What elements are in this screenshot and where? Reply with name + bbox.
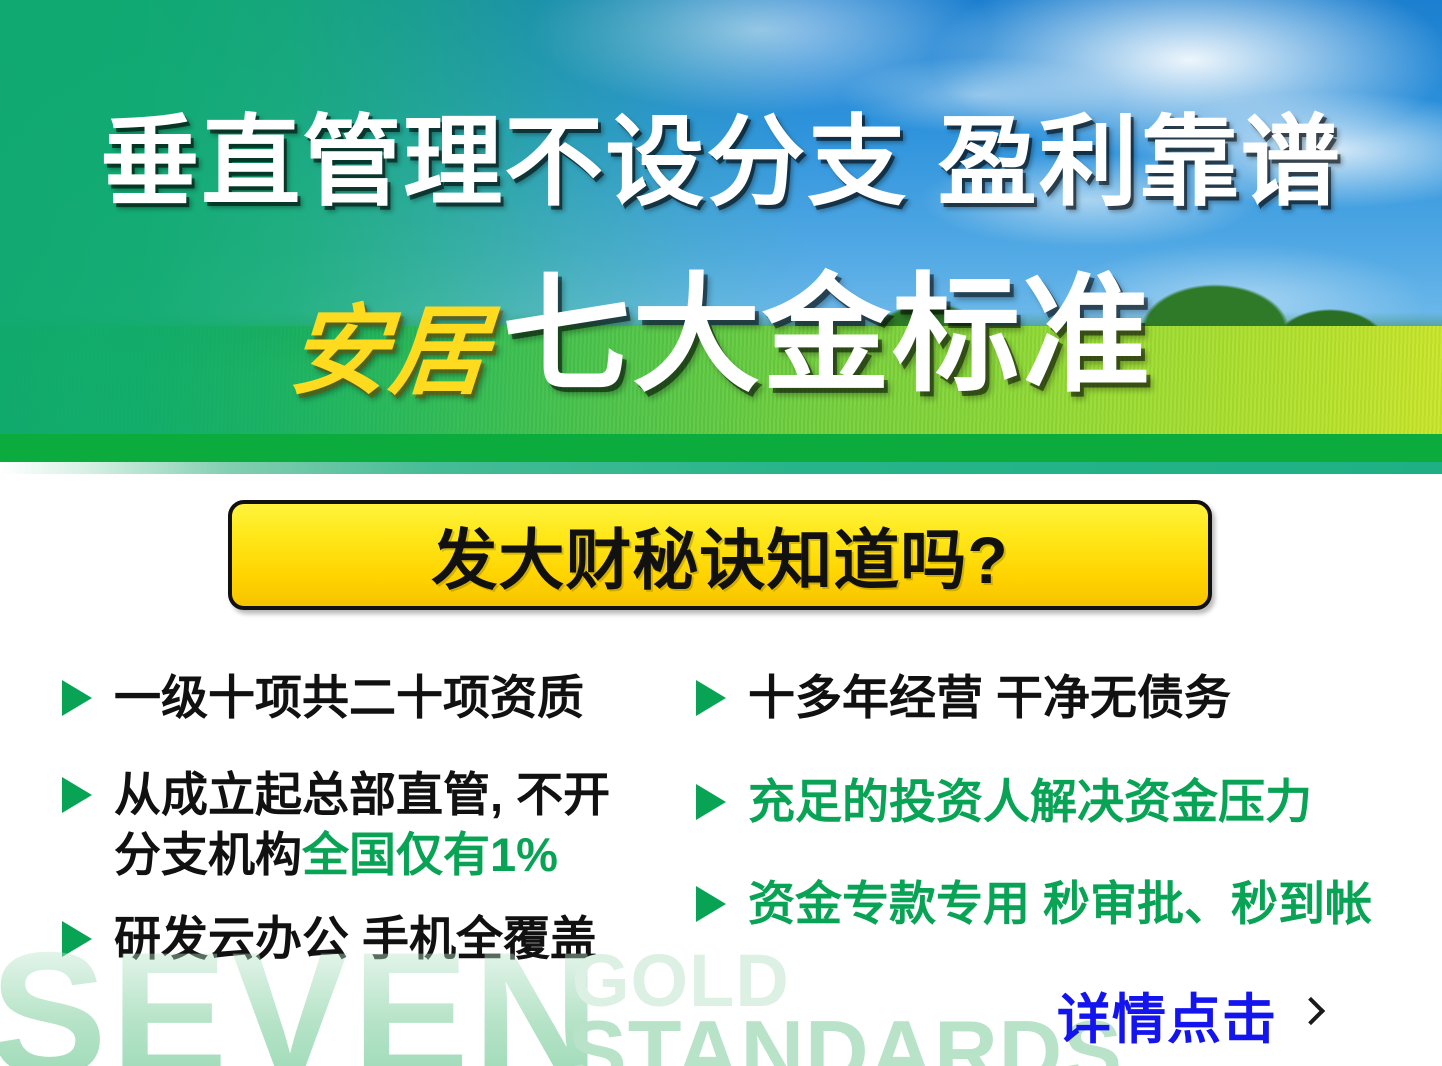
list-item: 十多年经营 干净无债务 xyxy=(696,668,1416,728)
hero-brand-text: 安居 xyxy=(286,302,493,400)
list-item: 研发云办公 手机全覆盖 xyxy=(62,909,692,969)
list-item-label: 一级十项共二十项资质 xyxy=(114,668,584,728)
triangle-bullet-icon xyxy=(696,784,726,820)
list-item-label: 充足的投资人解决资金压力 xyxy=(748,772,1312,832)
hero-subheadline-main: 七大金标准 xyxy=(502,272,1152,400)
details-cta-link[interactable]: 详情点击 xyxy=(1057,975,1319,1054)
triangle-bullet-icon xyxy=(696,680,726,716)
list-item-label: 十多年经营 干净无债务 xyxy=(748,668,1231,728)
watermark-standards: STANDARDS xyxy=(568,1008,1123,1066)
triangle-bullet-icon xyxy=(696,886,726,922)
feature-column-right: 十多年经营 干净无债务 充足的投资人解决资金压力 资金专款专用 秒审批、秒到帐 xyxy=(696,668,1416,966)
advertisement-banner: 垂直管理不设分支 盈利靠谱 安居 七大金标准 发大财秘诀知道吗? 一级十项共二十… xyxy=(0,0,1442,1066)
list-item-label: 资金专款专用 秒审批、秒到帐 xyxy=(748,874,1372,934)
details-cta-label: 详情点击 xyxy=(1057,975,1277,1054)
list-item: 资金专款专用 秒审批、秒到帐 xyxy=(696,874,1416,934)
feature-column-left: 一级十项共二十项资质 从成立起总部直管, 不开分支机构全国仅有1% 研发云办公 … xyxy=(62,668,692,1002)
list-item: 一级十项共二十项资质 xyxy=(62,668,692,728)
hero-subheadline: 安居 七大金标准 xyxy=(0,272,1442,400)
triangle-bullet-icon xyxy=(62,680,92,716)
hero-divider-strip xyxy=(0,462,1442,474)
list-item: 从成立起总部直管, 不开分支机构全国仅有1% xyxy=(62,765,692,885)
chevron-right-icon xyxy=(1299,997,1319,1033)
feature-columns: 一级十项共二十项资质 从成立起总部直管, 不开分支机构全国仅有1% 研发云办公 … xyxy=(0,668,1442,998)
list-item-line2-highlight: 全国仅有1% xyxy=(302,828,558,881)
list-item-label: 从成立起总部直管, 不开分支机构全国仅有1% xyxy=(114,765,610,885)
hero-bottom-green-bar xyxy=(0,434,1442,462)
list-item-line1: 从成立起总部直管, 不开 xyxy=(114,768,610,821)
list-item-line2-plain: 分支机构 xyxy=(114,828,302,881)
list-item-label: 研发云办公 手机全覆盖 xyxy=(114,909,597,969)
triangle-bullet-icon xyxy=(62,921,92,957)
hero-headline: 垂直管理不设分支 盈利靠谱 xyxy=(0,112,1442,211)
highlight-banner[interactable]: 发大财秘诀知道吗? xyxy=(228,500,1212,610)
highlight-banner-label: 发大财秘诀知道吗? xyxy=(431,507,1008,603)
triangle-bullet-icon xyxy=(62,777,92,813)
list-item: 充足的投资人解决资金压力 xyxy=(696,772,1416,832)
